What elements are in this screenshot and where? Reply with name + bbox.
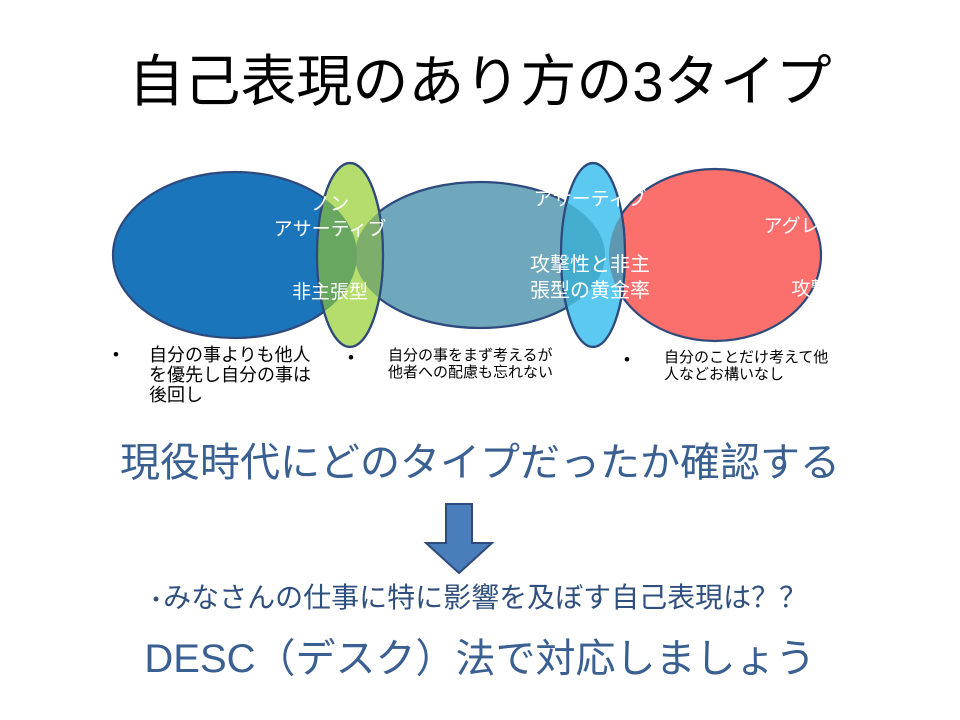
closing-line: DESC（デスク）法で対応しましょう <box>0 638 960 680</box>
question-line: •みなさんの仕事に特に影響を及ぼす自己表現は？？ <box>0 583 960 614</box>
bullet-marker-icon: • <box>113 345 119 365</box>
list-item: • 自分の事をまず考えるが他者への配慮も忘れない <box>348 348 598 382</box>
bullet-marker-icon: • <box>153 589 159 609</box>
three-type-venn-diagram: ノン アサーティブ 非主張型 アサーティブ 攻撃性と非主 張型の黄金率 アグレッ… <box>100 160 860 350</box>
bullet-marker-icon: • <box>624 350 630 370</box>
statement-line: 現役時代にどのタイプだったか確認する <box>0 442 960 484</box>
bullet-marker-icon: • <box>348 348 354 368</box>
bullet-text: 自分のことだけ考えて他人などお構いなし <box>664 350 829 384</box>
list-item: • 自分の事よりも他人を優先し自分の事は後回し <box>113 345 338 405</box>
arrow-down-icon <box>420 503 540 575</box>
bullet-text: 自分の事よりも他人を優先し自分の事は後回し <box>149 345 319 405</box>
question-text: みなさんの仕事に特に影響を及ぼす自己表現は？？ <box>163 582 807 613</box>
bullet-descriptions: • 自分の事よりも他人を優先し自分の事は後回し • 自分の事をまず考えるが他者へ… <box>0 344 960 429</box>
list-item: • 自分のことだけ考えて他人などお構いなし <box>624 350 874 384</box>
presentation-slide: 自己表現のあり方の3タイプ <box>0 0 960 720</box>
bullet-text: 自分の事をまず考えるが他者への配慮も忘れない <box>388 348 563 382</box>
ellipse-aggressive <box>609 169 821 341</box>
page-title: 自己表現のあり方の3タイプ <box>0 54 960 110</box>
